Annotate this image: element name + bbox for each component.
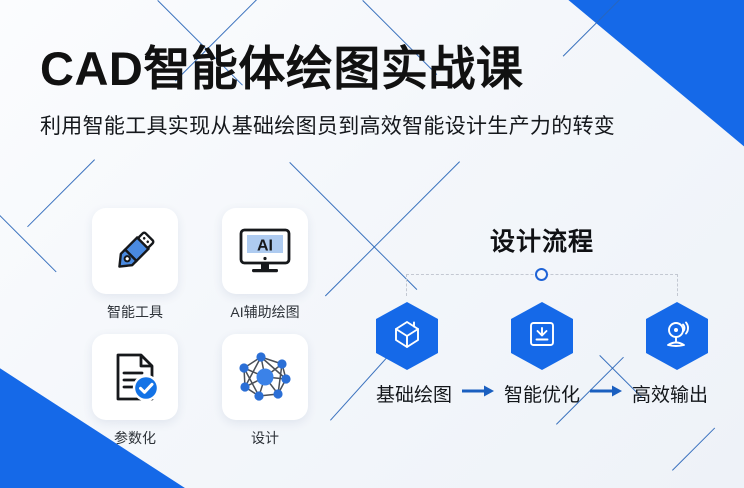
feature-grid: 智能工具 AI AI辅助绘图 bbox=[92, 208, 308, 422]
arrow-right-icon bbox=[589, 384, 623, 403]
flow-step-icon-optimize[interactable] bbox=[509, 302, 575, 370]
feature-card-ai-drawing[interactable]: AI AI辅助绘图 bbox=[222, 208, 308, 296]
location-pin-icon bbox=[661, 318, 693, 355]
page-subtitle: 利用智能工具实现从基础绘图员到高效智能设计生产力的转变 bbox=[40, 110, 615, 140]
flow-step-label-optimize: 智能优化 bbox=[504, 380, 580, 407]
monitor-ai-icon: AI bbox=[237, 225, 293, 277]
feature-label: 参数化 bbox=[92, 428, 178, 448]
feature-icon-card: AI bbox=[222, 208, 308, 294]
feature-card-smart-tools[interactable]: 智能工具 bbox=[92, 208, 178, 296]
pen-icon bbox=[109, 225, 161, 277]
hexagon-badge bbox=[511, 302, 573, 370]
feature-icon-card bbox=[92, 334, 178, 420]
feature-label: 设计 bbox=[222, 428, 308, 448]
arrow-right-icon bbox=[461, 384, 495, 403]
design-flow-section: 设计流程 bbox=[368, 222, 716, 407]
diagonal-line bbox=[27, 159, 95, 227]
feature-card-parametric[interactable]: 参数化 bbox=[92, 334, 178, 422]
feature-label: AI辅助绘图 bbox=[222, 302, 308, 322]
network-nodes-icon bbox=[237, 349, 293, 405]
page-title: CAD智能体绘图实战课 bbox=[40, 44, 615, 93]
diagonal-line bbox=[672, 428, 715, 471]
flow-step-label-basic: 基础绘图 bbox=[376, 380, 452, 407]
flow-step-labels: 基础绘图 智能优化 高效输出 bbox=[368, 380, 716, 407]
flow-step-icon-basic[interactable] bbox=[374, 302, 440, 370]
header-block: CAD智能体绘图实战课 利用智能工具实现从基础绘图员到高效智能设计生产力的转变 bbox=[40, 44, 615, 140]
feature-icon-card bbox=[92, 208, 178, 294]
feature-card-design[interactable]: 设计 bbox=[222, 334, 308, 422]
flow-connector-dot bbox=[535, 268, 548, 281]
hexagon-badge bbox=[376, 302, 438, 370]
flow-step-icon-output[interactable] bbox=[644, 302, 710, 370]
hexagon-badge bbox=[646, 302, 708, 370]
feature-label: 智能工具 bbox=[92, 302, 178, 322]
flow-step-label-output: 高效输出 bbox=[632, 380, 708, 407]
flow-title: 设计流程 bbox=[368, 222, 716, 258]
feature-icon-card bbox=[222, 334, 308, 420]
poster-canvas: CAD智能体绘图实战课 利用智能工具实现从基础绘图员到高效智能设计生产力的转变 bbox=[0, 0, 744, 488]
flow-connector-bracket bbox=[406, 274, 678, 296]
flow-hexagon-row bbox=[368, 302, 716, 370]
document-check-icon bbox=[108, 350, 162, 404]
diagonal-line bbox=[0, 215, 57, 272]
cube-icon bbox=[391, 318, 423, 355]
svg-text:AI: AI bbox=[257, 238, 273, 255]
download-document-icon bbox=[527, 319, 557, 354]
